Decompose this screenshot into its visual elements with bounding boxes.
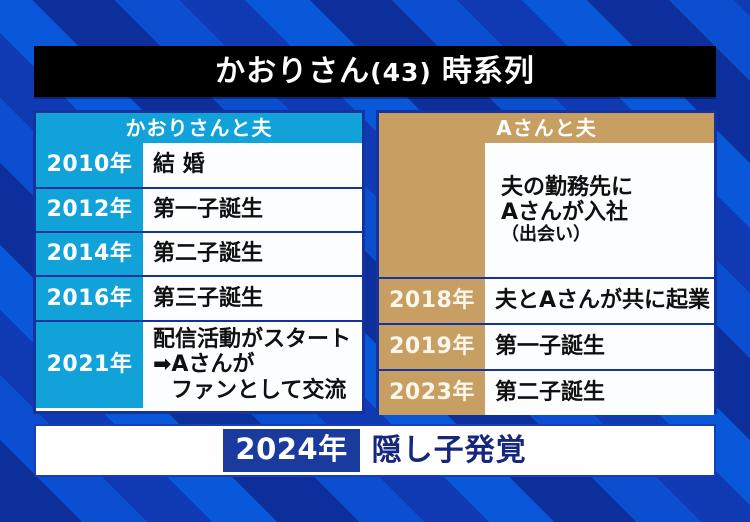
infographic-stage: かおりさん(43)時系列 かおりさんと夫 2010年 結 婚 2012年 第一子… — [0, 0, 750, 522]
footer-year-badge: 2024年 — [223, 429, 359, 472]
row-description: 夫の勤務先に Aさんが入社 （出会い） — [485, 143, 714, 277]
title-suffix: 時系列 — [442, 54, 535, 89]
row-year: 2018年 — [379, 279, 485, 323]
table-row: 2012年 第一子誕生 — [36, 187, 362, 231]
footer-banner: 2024年 隠し子発覚 — [34, 424, 716, 477]
title-age: (43) — [370, 58, 432, 87]
row-line: 第二子誕生 — [153, 241, 362, 266]
row-description: 第一子誕生 — [485, 325, 714, 369]
column-header-a: Aさんと夫 — [379, 113, 714, 143]
row-description: 夫とAさんが共に起業 — [485, 279, 714, 323]
row-line: 第一子誕生 — [153, 197, 362, 222]
table-row: 夫の勤務先に Aさんが入社 （出会い） — [379, 143, 714, 277]
timeline-tables: かおりさんと夫 2010年 結 婚 2012年 第一子誕生 2014年 — [33, 110, 717, 414]
row-year: 2014年 — [36, 233, 143, 275]
row-description: 配信活動がスタート ➡Aさんが ファンとして交流 — [143, 322, 362, 408]
row-line: 配信活動がスタート — [153, 327, 362, 352]
row-description: 結 婚 — [143, 143, 362, 187]
row-year: 2012年 — [36, 189, 143, 231]
row-year: 2023年 — [379, 371, 485, 415]
row-description: 第一子誕生 — [143, 189, 362, 231]
table-row: 2021年 配信活動がスタート ➡Aさんが ファンとして交流 — [36, 320, 362, 408]
row-year-empty — [379, 143, 485, 277]
row-line: 第二子誕生 — [495, 380, 714, 405]
timeline-column-a: Aさんと夫 夫の勤務先に Aさんが入社 （出会い） 2018年 夫とAさんが共に… — [376, 110, 717, 414]
table-row: 2019年 第一子誕生 — [379, 323, 714, 369]
row-line: Aさんが入社 — [501, 200, 714, 225]
table-row: 2018年 夫とAさんが共に起業 — [379, 277, 714, 323]
row-line: ファンとして交流 — [153, 378, 362, 403]
column-rows-kaori: 2010年 結 婚 2012年 第一子誕生 2014年 第二子誕生 — [36, 143, 362, 411]
footer-headline: 隠し子発覚 — [372, 436, 527, 466]
row-line: 第一子誕生 — [495, 334, 714, 359]
row-year: 2016年 — [36, 277, 143, 320]
page-title: かおりさん(43)時系列 — [215, 57, 535, 87]
title-name: かおりさん — [215, 54, 370, 89]
column-rows-a: 夫の勤務先に Aさんが入社 （出会い） 2018年 夫とAさんが共に起業 201… — [379, 143, 714, 415]
table-row: 2010年 結 婚 — [36, 143, 362, 187]
column-header-kaori: かおりさんと夫 — [36, 113, 362, 143]
timeline-column-kaori: かおりさんと夫 2010年 結 婚 2012年 第一子誕生 2014年 — [33, 110, 365, 414]
table-row: 2023年 第二子誕生 — [379, 369, 714, 415]
row-year: 2010年 — [36, 143, 143, 187]
row-line: 夫の勤務先に — [501, 175, 714, 200]
row-line-arrow: ➡Aさんが — [153, 352, 362, 377]
title-banner: かおりさん(43)時系列 — [34, 46, 716, 97]
row-line: 第三子誕生 — [153, 286, 362, 311]
row-year: 2021年 — [36, 322, 143, 408]
row-description: 第二子誕生 — [485, 371, 714, 415]
row-description: 第二子誕生 — [143, 233, 362, 275]
table-row: 2014年 第二子誕生 — [36, 231, 362, 275]
row-line: 夫とAさんが共に起業 — [495, 288, 714, 313]
row-description: 第三子誕生 — [143, 277, 362, 320]
row-year: 2019年 — [379, 325, 485, 369]
row-line-note: （出会い） — [501, 225, 714, 246]
row-line: 結 婚 — [153, 152, 362, 177]
table-row: 2016年 第三子誕生 — [36, 275, 362, 320]
